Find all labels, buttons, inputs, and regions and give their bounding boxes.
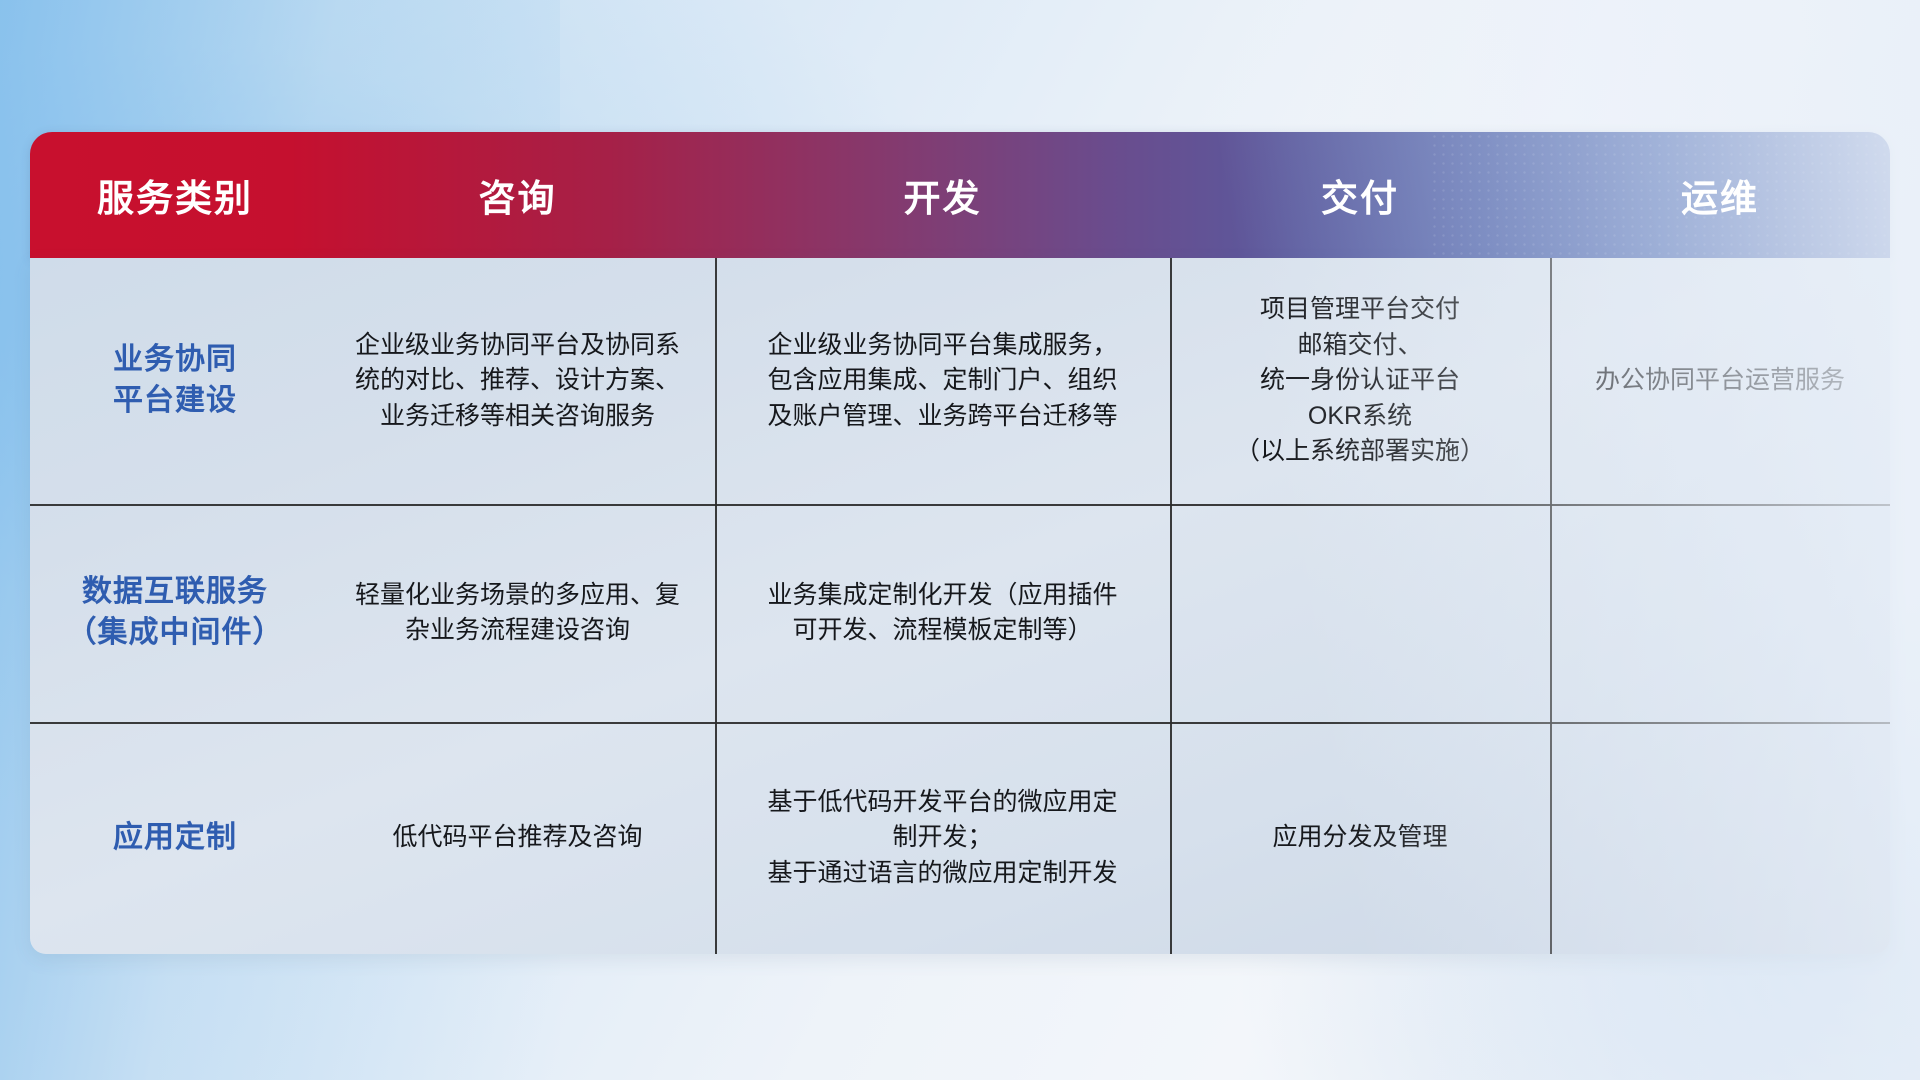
cell-delivery-row3: 应用分发及管理 bbox=[1170, 722, 1550, 954]
table-row: 数据互联服务 （集成中间件） 轻量化业务场景的多应用、复 杂业务流程建设咨询 业… bbox=[30, 504, 1890, 722]
cell-consulting-row2: 轻量化业务场景的多应用、复 杂业务流程建设咨询 bbox=[320, 504, 715, 722]
cell-development-row2: 业务集成定制化开发（应用插件 可开发、流程模板定制等） bbox=[715, 504, 1170, 722]
table-header-row: 服务类别 咨询 开发 交付 运维 bbox=[30, 132, 1890, 258]
row-label-business-collaboration: 业务协同 平台建设 bbox=[30, 258, 320, 504]
slide-canvas: 服务类别 咨询 开发 交付 运维 业务协同 平台建设 企业级业务协同平台及协同系… bbox=[0, 0, 1920, 1080]
service-matrix-table: 服务类别 咨询 开发 交付 运维 业务协同 平台建设 企业级业务协同平台及协同系… bbox=[30, 132, 1890, 954]
cell-operations-row2 bbox=[1550, 504, 1890, 722]
cell-consulting-row1: 企业级业务协同平台及协同系 统的对比、推荐、设计方案、 业务迁移等相关咨询服务 bbox=[320, 258, 715, 504]
table-row: 业务协同 平台建设 企业级业务协同平台及协同系 统的对比、推荐、设计方案、 业务… bbox=[30, 258, 1890, 504]
row-label-data-integration: 数据互联服务 （集成中间件） bbox=[30, 504, 320, 722]
table-header-cell-consulting: 咨询 bbox=[320, 168, 715, 222]
table-header-cell-service-category: 服务类别 bbox=[30, 168, 320, 222]
table-body: 业务协同 平台建设 企业级业务协同平台及协同系 统的对比、推荐、设计方案、 业务… bbox=[30, 258, 1890, 954]
cell-development-row3: 基于低代码开发平台的微应用定 制开发； 基于通过语言的微应用定制开发 bbox=[715, 722, 1170, 954]
cell-delivery-row2 bbox=[1170, 504, 1550, 722]
cell-operations-row3 bbox=[1550, 722, 1890, 954]
cell-operations-row1: 办公协同平台运营服务 bbox=[1550, 258, 1890, 504]
table-header-cell-development: 开发 bbox=[715, 168, 1170, 222]
table-row: 应用定制 低代码平台推荐及咨询 基于低代码开发平台的微应用定 制开发； 基于通过… bbox=[30, 722, 1890, 954]
row-label-app-customization: 应用定制 bbox=[30, 722, 320, 954]
table-header-cell-operations: 运维 bbox=[1550, 168, 1890, 222]
cell-development-row1: 企业级业务协同平台集成服务， 包含应用集成、定制门户、组织 及账户管理、业务跨平… bbox=[715, 258, 1170, 504]
table-header-cell-delivery: 交付 bbox=[1170, 168, 1550, 222]
cell-delivery-row1: 项目管理平台交付 邮箱交付、 统一身份认证平台 OKR系统 （以上系统部署实施） bbox=[1170, 258, 1550, 504]
cell-consulting-row3: 低代码平台推荐及咨询 bbox=[320, 722, 715, 954]
